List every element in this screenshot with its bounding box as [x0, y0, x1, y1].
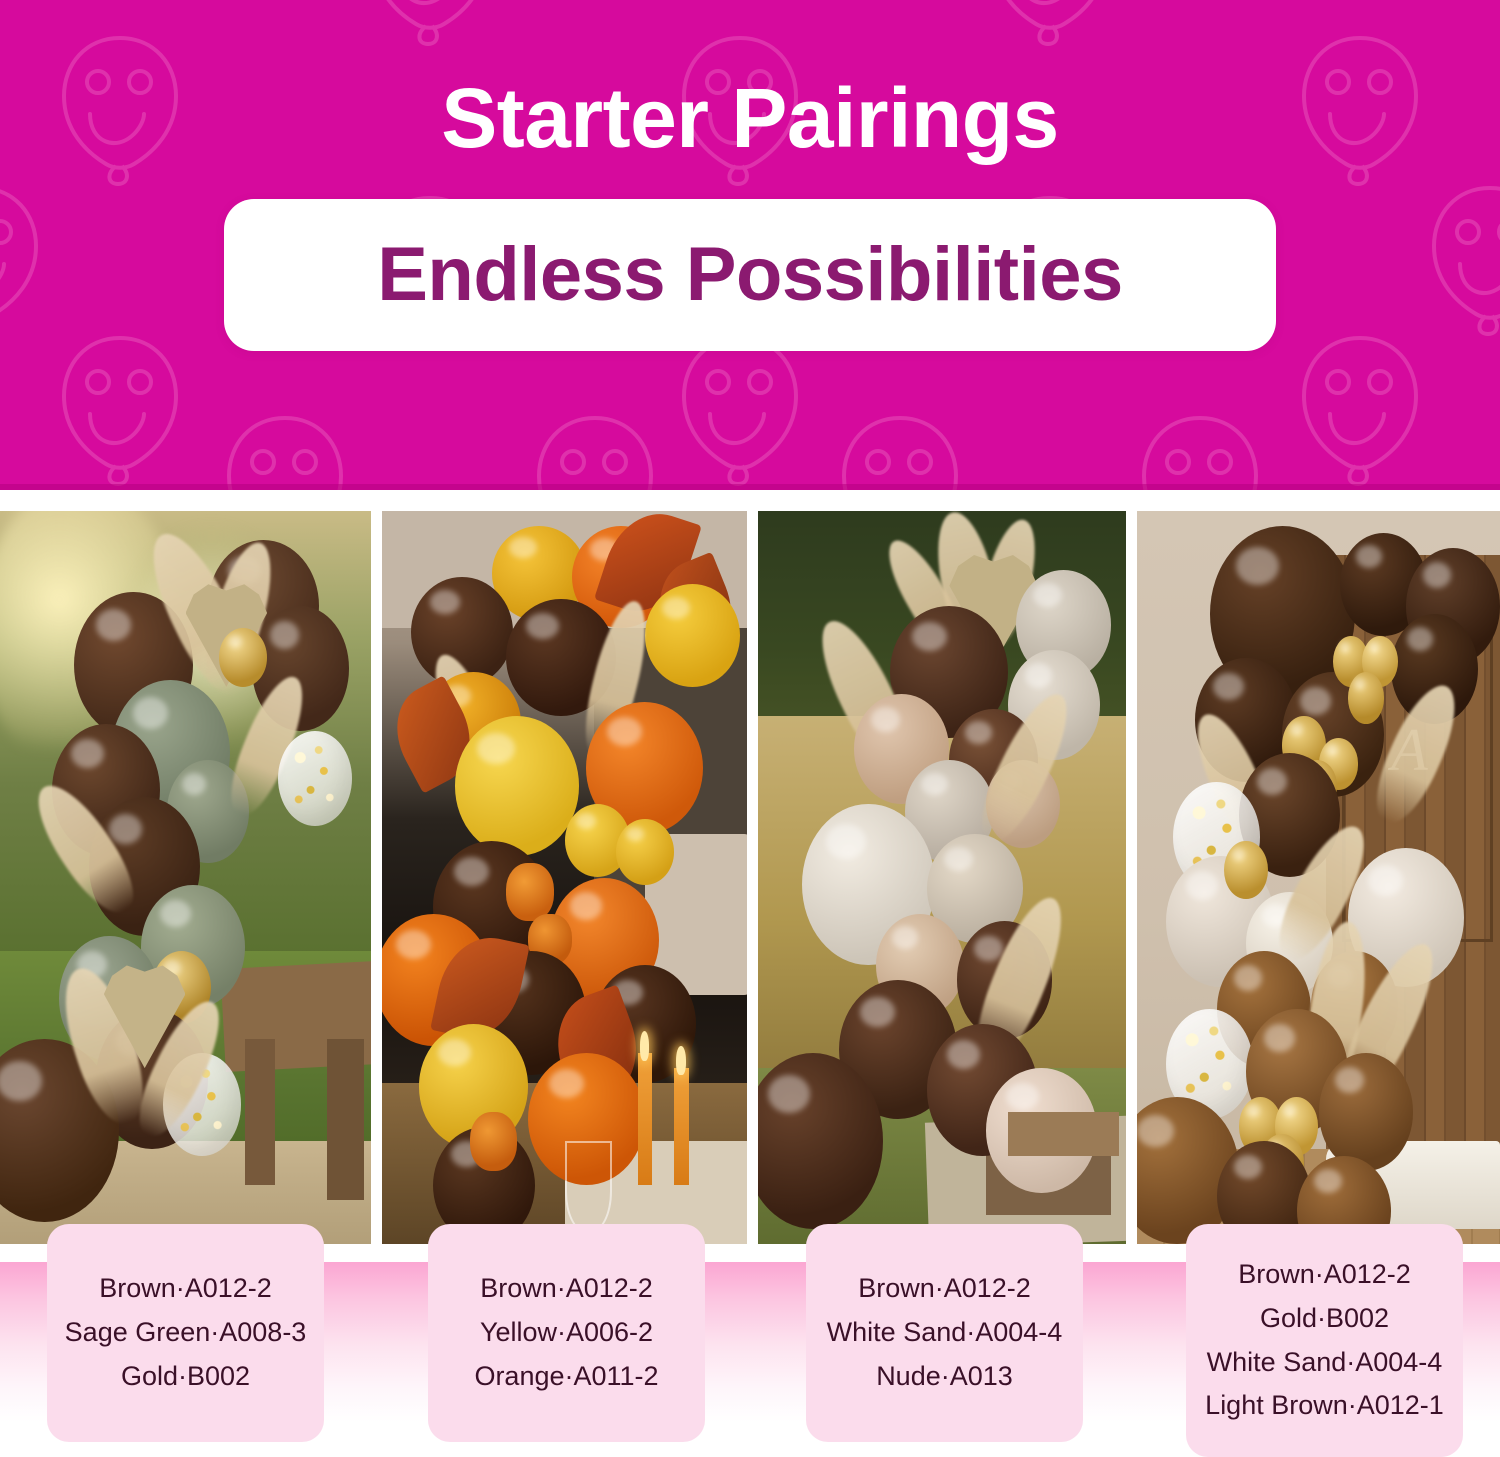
pairing-line: Brown·A012-2 [1238, 1253, 1411, 1297]
page-subtitle: Endless Possibilities [377, 237, 1123, 313]
pairing-label-4: Brown·A012-2 Gold·B002 White Sand·A004-4… [1186, 1224, 1463, 1457]
pairing-line: Gold·B002 [1260, 1297, 1389, 1341]
pairing-line: White Sand·A004-4 [827, 1311, 1063, 1355]
header-banner: Starter Pairings Endless Possibilities [0, 0, 1500, 490]
pairing-line: Brown·A012-2 [858, 1267, 1031, 1311]
photo-outdoor-sage-brown-garland [0, 511, 371, 1244]
pairing-line: Gold·B002 [121, 1355, 250, 1399]
gallery-panel-1[interactable] [0, 511, 371, 1244]
gallery-panel-3[interactable] [758, 511, 1126, 1244]
pairing-line: Yellow·A006-2 [480, 1311, 653, 1355]
pairing-line: Orange·A011-2 [474, 1355, 658, 1399]
pairing-label-1: Brown·A012-2 Sage Green·A008-3 Gold·B002 [47, 1224, 324, 1442]
gallery-panel-4[interactable]: A [1137, 511, 1500, 1244]
pairing-label-3: Brown·A012-2 White Sand·A004-4 Nude·A013 [806, 1224, 1083, 1442]
header-divider [0, 484, 1500, 490]
gallery: A [0, 511, 1500, 1244]
subtitle-card: Endless Possibilities [224, 199, 1276, 351]
gallery-panel-2[interactable] [382, 511, 747, 1244]
pairing-line: Brown·A012-2 [480, 1267, 653, 1311]
photo-indoor-fall-orange-garland [382, 511, 747, 1244]
pairing-line: White Sand·A004-4 [1207, 1341, 1443, 1385]
pairing-line: Sage Green·A008-3 [65, 1311, 307, 1355]
photo-barn-brown-gold-garland: A [1137, 511, 1500, 1244]
photo-field-nude-white-garland [758, 511, 1126, 1244]
pairing-line: Nude·A013 [876, 1355, 1013, 1399]
pairing-line: Light Brown·A012-1 [1205, 1384, 1444, 1428]
pairing-line: Brown·A012-2 [99, 1267, 272, 1311]
pairing-label-2: Brown·A012-2 Yellow·A006-2 Orange·A011-2 [428, 1224, 705, 1442]
page-title: Starter Pairings [441, 76, 1059, 160]
